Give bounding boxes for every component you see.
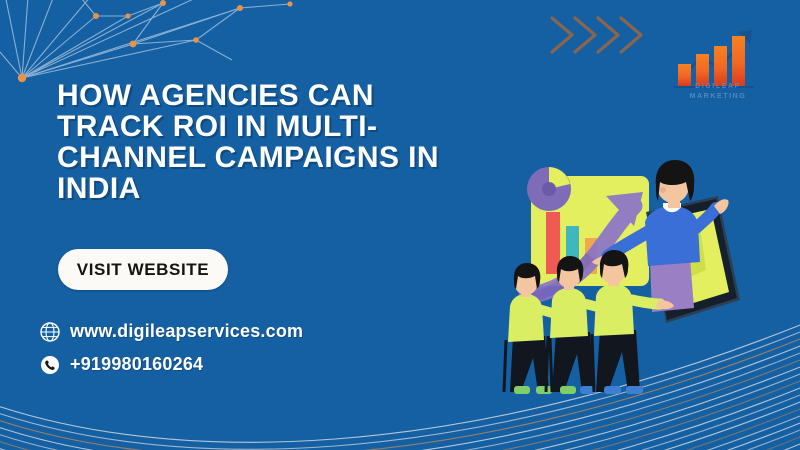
pie-chart-graphic: [527, 167, 571, 211]
phone-text: +919980160264: [70, 354, 203, 375]
phone-icon: [40, 355, 60, 375]
bar-chart-graphic: [546, 212, 597, 274]
woman-presenter: [592, 160, 729, 312]
chair-legs: [504, 334, 594, 392]
logo-bars: [678, 36, 745, 86]
marketing-banner: DIGILEAP MARKETING: [0, 0, 800, 450]
presentation-board: [527, 167, 649, 286]
phone-contact[interactable]: +919980160264: [40, 354, 203, 375]
seated-person-left: [508, 263, 562, 394]
visit-website-button[interactable]: VISIT WEBSITE: [58, 249, 228, 290]
chevron-arrows-icon: [548, 12, 654, 58]
seated-person-middle: [550, 256, 608, 394]
website-text: www.digileapservices.com: [70, 321, 303, 342]
globe-icon: [40, 322, 60, 342]
website-contact[interactable]: www.digileapservices.com: [40, 321, 303, 342]
seated-person-right: [594, 250, 674, 394]
growth-arrow-graphic: [519, 192, 643, 300]
logo-line-2: MARKETING: [668, 92, 768, 102]
page-title: HOW AGENCIES CAN TRACK ROI IN MULTI-CHAN…: [57, 80, 487, 204]
logo-wordmark: DIGILEAP MARKETING: [668, 82, 768, 102]
tablet-device: [646, 196, 740, 323]
visit-website-label: VISIT WEBSITE: [77, 260, 209, 280]
seated-audience: [504, 250, 674, 394]
logo-line-1: DIGILEAP: [668, 82, 768, 92]
